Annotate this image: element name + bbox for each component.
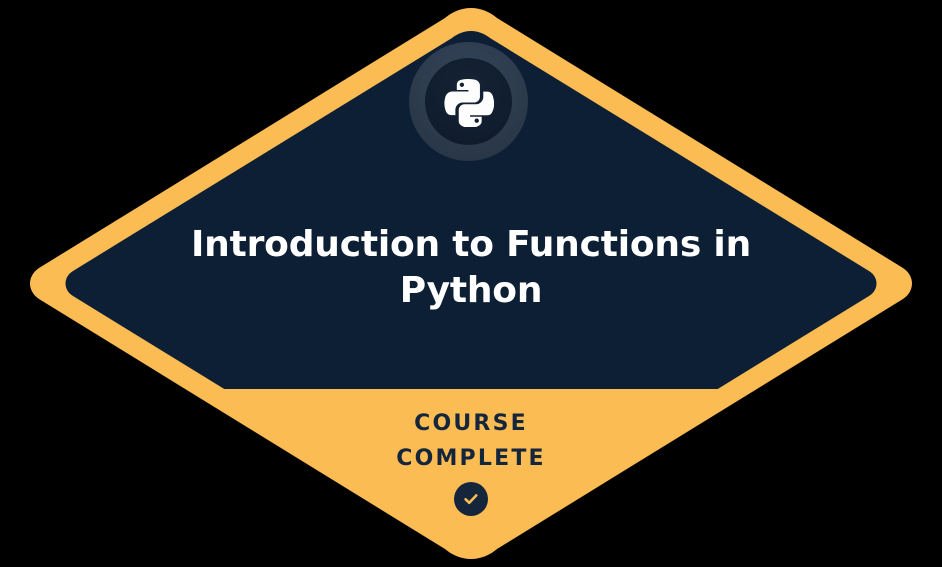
check-circle-icon [454,482,488,516]
emblem-container [409,42,528,161]
course-completion-badge: Introduction to Functions in Python COUR… [0,0,942,567]
status-line-complete: COMPLETE [221,441,721,476]
python-logo-icon [443,76,494,127]
status-line-course: COURSE [221,406,721,441]
course-complete-block: COURSE COMPLETE [221,406,721,516]
badge-title: Introduction to Functions in Python [151,222,791,314]
check-badge-wrap [221,482,721,516]
